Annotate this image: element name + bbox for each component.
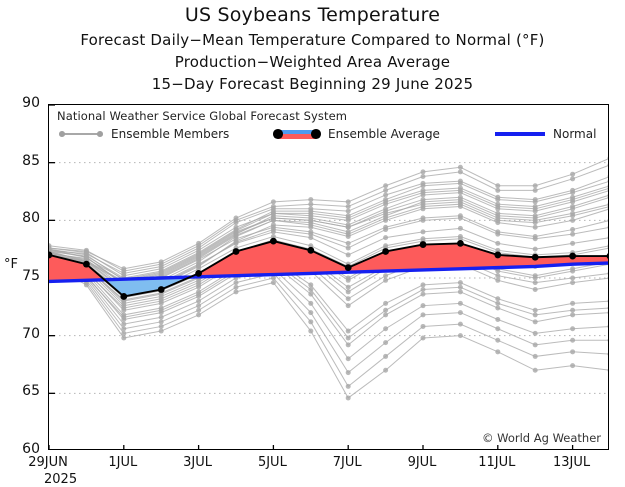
x-tick-29JUN: 29JUN [14,455,82,470]
chart-canvas [49,105,609,450]
ensemble-average-point [345,264,352,271]
x-tick-3JUL: 3JUL [164,455,232,470]
x-tick-13JUL: 13JUL [538,455,606,470]
ensemble-average-point [457,240,464,247]
y-tick-65: 65 [0,383,40,399]
y-tick-90: 90 [0,95,40,111]
chart-page: US Soybeans Temperature Forecast Daily−M… [0,0,625,486]
chart-subtitle-3: 15−Day Forecast Beginning 29 June 2025 [0,75,625,93]
x-tick-9JUL: 9JUL [388,455,456,470]
plot-area: National Weather Service Global Forecast… [48,104,609,450]
ensemble-average-point [120,293,127,300]
ensemble-average-point [494,252,501,259]
ensemble-average-point [158,286,165,293]
ensemble-average-point [233,248,240,255]
ensemble-average-point [382,248,389,255]
y-tick-70: 70 [0,326,40,342]
ensemble-average-point [420,241,427,248]
x-tick-5JUL: 5JUL [238,455,306,470]
x-axis-year-label: 2025 [44,472,77,487]
x-tick-7JUL: 7JUL [313,455,381,470]
ensemble-average-point [270,238,277,245]
y-tick-80: 80 [0,210,40,226]
y-tick-85: 85 [0,153,40,169]
chart-title: US Soybeans Temperature [0,4,625,26]
ensemble-average-point [307,247,314,254]
chart-subtitle-2: Production−Weighted Area Average [0,53,625,71]
x-tick-11JUL: 11JUL [463,455,531,470]
ensemble-average-point [83,261,90,268]
ensemble-average-point [569,253,576,260]
y-tick-75: 75 [0,268,40,284]
x-tick-1JUL: 1JUL [89,455,157,470]
ensemble-average-point [195,270,202,277]
plot-frame: National Weather Service Global Forecast… [48,104,609,450]
chart-subtitle-1: Forecast Daily−Mean Temperature Compared… [0,31,625,49]
ensemble-average-point [532,254,539,261]
